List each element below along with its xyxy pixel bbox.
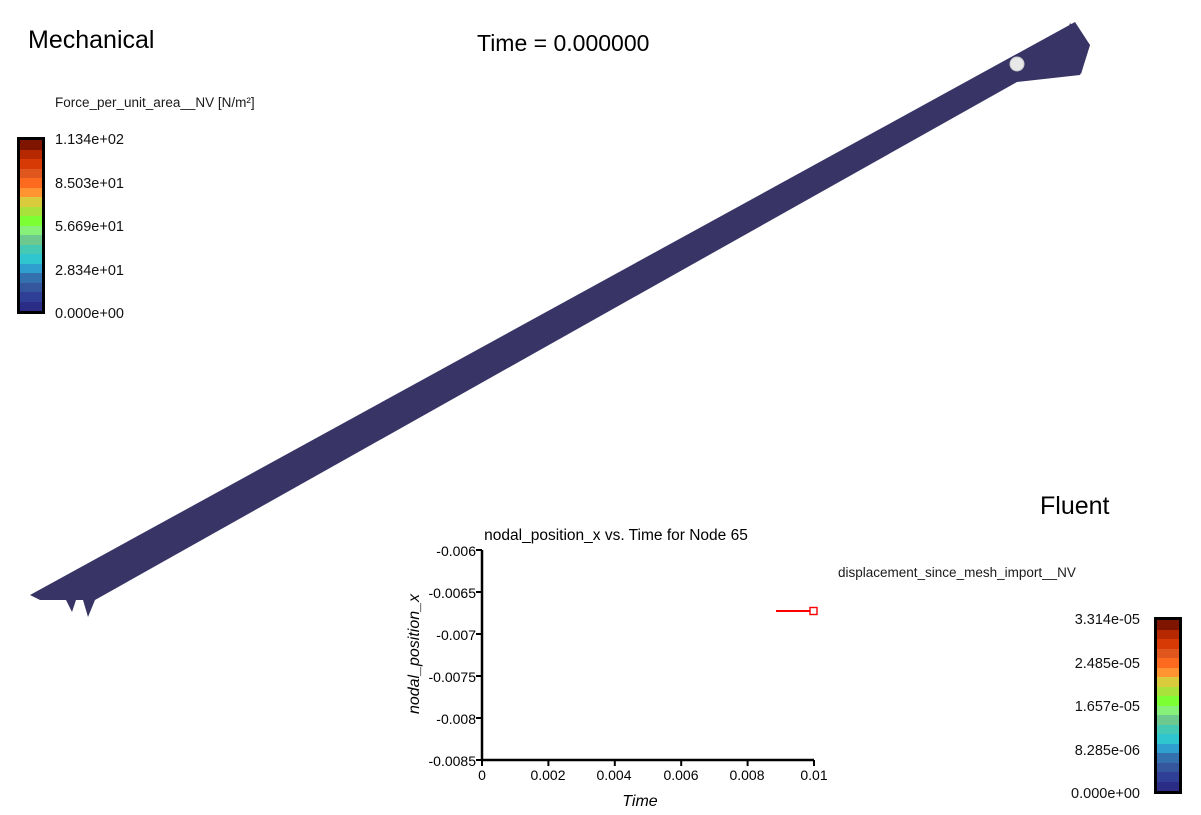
colorbar-band-13 (1157, 744, 1179, 754)
participant-title-mechanical: Mechanical (28, 26, 154, 55)
colorbar-band-7 (1157, 687, 1179, 697)
colorbar-band-6 (20, 197, 42, 207)
plot-ytick-label-3: -0.0075 (392, 670, 476, 684)
colorbar-mechanical (17, 137, 45, 314)
simulation-viewport: Mechanical Fluent Time = 0.000000 Force_… (0, 0, 1201, 815)
node-marker-node-65 (1010, 57, 1024, 71)
plot-series-legend-swatch (774, 604, 822, 618)
plot-ytick-label-4: -0.008 (392, 712, 476, 726)
plot-axis-lines (482, 550, 814, 760)
colorbar-band-3 (20, 169, 42, 179)
colorbar-band-11 (1157, 725, 1179, 735)
colorbar-band-16 (1157, 772, 1179, 782)
colorbar-band-17 (20, 302, 42, 312)
legend-title-fluent: displacement_since_mesh_import__NV (838, 565, 1076, 580)
plot-xtick-label-3: 0.006 (651, 768, 711, 782)
legend-tick-mechanical-4: 0.000e+00 (55, 307, 124, 322)
plot-ytick-label-5: -0.0085 (392, 754, 476, 768)
plot-xtick-label-5: 0.01 (784, 768, 844, 782)
plot-ytick-label-0: -0.006 (392, 544, 476, 558)
colorbar-band-17 (1157, 782, 1179, 792)
colorbar-band-3 (1157, 649, 1179, 659)
colorbar-band-2 (1157, 639, 1179, 649)
colorbar-band-13 (20, 264, 42, 274)
legend-tick-mechanical-2: 5.669e+01 (55, 220, 124, 235)
legend-tick-fluent-4: 0.000e+00 (1000, 787, 1140, 802)
colorbar-band-14 (1157, 753, 1179, 763)
legend-tick-mechanical-1: 8.503e+01 (55, 177, 124, 192)
participant-title-fluent: Fluent (1040, 492, 1109, 521)
colorbar-band-15 (20, 283, 42, 293)
colorbar-band-9 (20, 226, 42, 236)
beam-end-cap (1062, 23, 1090, 74)
colorbar-band-8 (20, 216, 42, 226)
colorbar-band-16 (20, 292, 42, 302)
colorbar-band-4 (20, 178, 42, 188)
colorbar-band-1 (1157, 630, 1179, 640)
plot-ytick-label-1: -0.0065 (392, 586, 476, 600)
legend-tick-fluent-3: 8.285e-06 (1000, 744, 1140, 759)
plot-xtick-label-2: 0.004 (584, 768, 644, 782)
colorbar-band-11 (20, 245, 42, 255)
plot-xtick-label-1: 0.002 (518, 768, 578, 782)
colorbar-fluent (1154, 617, 1182, 794)
colorbar-band-5 (1157, 668, 1179, 678)
legend-tick-fluent-1: 2.485e-05 (1000, 657, 1140, 672)
xy-plot-panel: nodal_position_x vs. Time for Node 65 no… (396, 527, 836, 815)
colorbar-band-4 (1157, 658, 1179, 668)
colorbar-band-8 (1157, 696, 1179, 706)
legend-title-mechanical: Force_per_unit_area__NV [N/m²] (55, 95, 255, 110)
colorbar-band-14 (20, 273, 42, 283)
legend-tick-mechanical-3: 2.834e+01 (55, 264, 124, 279)
colorbar-band-12 (1157, 734, 1179, 744)
legend-tick-fluent-2: 1.657e-05 (1000, 700, 1140, 715)
colorbar-band-6 (1157, 677, 1179, 687)
plot-xtick-label-0: 0 (452, 768, 512, 782)
time-readout: Time = 0.000000 (477, 30, 649, 57)
colorbar-band-12 (20, 254, 42, 264)
plot-xtick-label-4: 0.008 (717, 768, 777, 782)
legend-tick-mechanical-0: 1.134e+02 (55, 133, 124, 148)
legend-tick-fluent-0: 3.314e-05 (1000, 613, 1140, 628)
colorbar-band-0 (1157, 620, 1179, 630)
colorbar-band-10 (1157, 715, 1179, 725)
colorbar-band-0 (20, 140, 42, 150)
colorbar-band-15 (1157, 763, 1179, 773)
colorbar-band-7 (20, 207, 42, 217)
colorbar-band-5 (20, 188, 42, 198)
plot-ytick-label-2: -0.007 (392, 628, 476, 642)
colorbar-band-10 (20, 235, 42, 245)
colorbar-band-9 (1157, 706, 1179, 716)
colorbar-band-1 (20, 150, 42, 160)
colorbar-band-2 (20, 159, 42, 169)
